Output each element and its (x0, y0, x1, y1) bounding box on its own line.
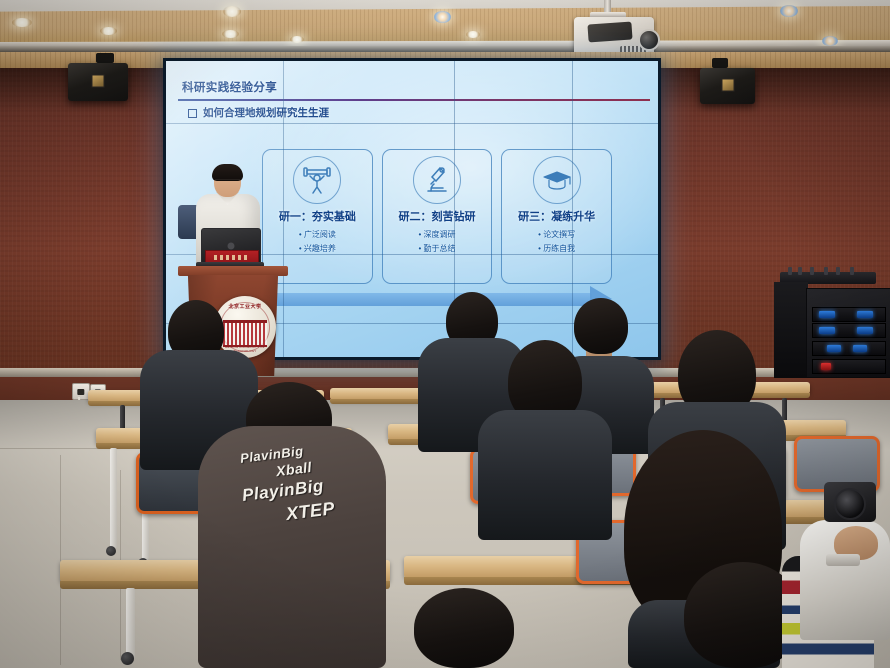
slide-card-bullet: 论文撰写 (502, 228, 611, 242)
audience-torso (478, 410, 612, 540)
rack-led-display (853, 345, 867, 352)
desk-caster (106, 546, 116, 556)
slide-title: 科研实践经验分享 (182, 79, 277, 95)
desk-leg (126, 588, 135, 658)
slide-title-rule (178, 99, 650, 101)
audience-member (478, 340, 614, 540)
slide-card-bullet: 广泛阅读 (263, 228, 372, 242)
slide-card-group: 研一：夯实基础 广泛阅读 兴趣培养 (262, 149, 612, 284)
rack-unit (812, 323, 886, 338)
wall-speaker-left (68, 63, 128, 101)
rack-led-indicator (821, 363, 831, 370)
mixer-knob (798, 267, 802, 275)
wristwatch (826, 554, 860, 566)
podium-top-surface (178, 266, 288, 276)
slide-card-year1: 研一：夯实基础 广泛阅读 兴趣培养 (262, 149, 373, 284)
checkbox-square-icon (188, 109, 197, 118)
audience-head (414, 588, 514, 668)
slide-card-bullets: 论文撰写 历练自我 (502, 228, 611, 256)
mixer-knob (850, 267, 854, 275)
slide-card-year2: 研二：刻苦钻研 深度调研 勤于总结 (382, 149, 493, 284)
downlight (222, 30, 239, 38)
slide-card-heading: 研三：凝练升华 (502, 208, 611, 224)
slide-subtitle: 如何合理地规划研究生生涯 (188, 105, 329, 120)
downlight (223, 6, 241, 17)
downlight (822, 36, 838, 46)
downlight (466, 31, 480, 38)
equipment-rack (806, 288, 890, 378)
wall-speaker-right (700, 68, 755, 104)
audience-member (384, 588, 544, 668)
rack-led-display (857, 311, 873, 318)
graduation-cap-icon (533, 156, 581, 204)
lecture-hall-photo: 科研实践经验分享 如何合理地规划研究生生涯 (0, 0, 890, 668)
mixer-knob (788, 267, 792, 275)
rack-led-display (827, 345, 841, 352)
slide-card-year3: 研三：凝练升华 论文撰写 历练自我 (501, 149, 612, 284)
desk-leg (110, 448, 117, 548)
slide-card-heading: 研一：夯实基础 (263, 208, 372, 224)
rack-led-display (819, 311, 835, 318)
downlight (780, 5, 798, 17)
glasses-icon (215, 179, 240, 186)
speaker-bracket (96, 53, 114, 63)
person-lifting-barbell-icon (293, 156, 341, 204)
rack-unit (812, 307, 886, 322)
slide-card-bullets: 深度调研 勤于总结 (383, 228, 492, 256)
downlight (100, 27, 117, 35)
rack-led-display (857, 327, 873, 334)
downlight (290, 36, 304, 43)
downlight (434, 11, 451, 23)
slide-card-bullet: 深度调研 (383, 228, 492, 242)
camera-lens-icon (834, 488, 866, 520)
slide-card-heading: 研二：刻苦钻研 (383, 208, 492, 224)
slide-subtitle-text: 如何合理地规划研究生生涯 (203, 107, 329, 119)
mixer-knob (810, 267, 814, 275)
mixer-knob (824, 267, 828, 275)
projector-top-shell (587, 21, 632, 42)
audience-member-foreground: PlavinBig Xball PlayinBig XTEP (198, 382, 388, 668)
rack-unit (812, 359, 886, 374)
mixer-knob (836, 267, 840, 275)
panel-seam (166, 123, 658, 124)
projector-lens-icon (638, 29, 660, 51)
speaker-bracket (712, 58, 728, 68)
rack-unit (812, 341, 886, 356)
desk-caster (121, 652, 134, 665)
slide-card-bullets: 广泛阅读 兴趣培养 (263, 228, 372, 256)
rack-led-display (819, 327, 835, 334)
downlight (12, 18, 32, 27)
camera (824, 482, 876, 522)
audience-member (800, 520, 890, 668)
